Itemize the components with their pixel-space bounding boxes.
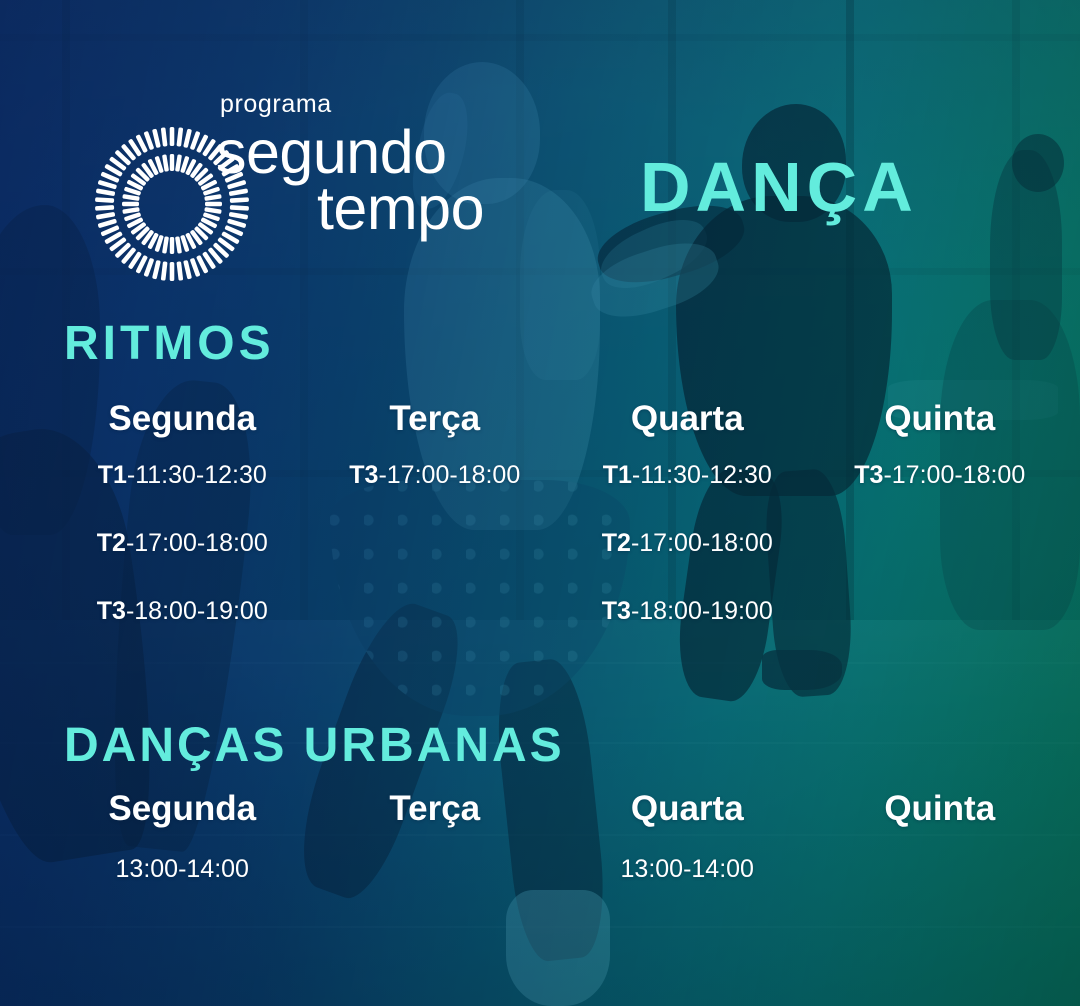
poster-canvas: programa segundo tempo DANÇA RITMOS Segu… [0,0,1080,1006]
slot-code: T2 [602,529,631,557]
schedule-grid-ritmos: Segunda T1-11:30-12:30 T2-17:00-18:00 T3… [56,400,1066,667]
logo-line-tempo: tempo [216,179,488,239]
slot-code: T3 [602,597,631,625]
slot-time: 13:00-14:00 [621,855,754,883]
schedule-column: Terça [309,790,562,882]
day-header: Segunda [56,790,309,829]
day-header: Quinta [814,400,1067,439]
slot-code: T1 [98,461,127,489]
section-heading-ritmos: RITMOS [64,320,275,368]
poster-content: programa segundo tempo DANÇA RITMOS Segu… [0,0,1080,1006]
time-slot [814,599,1067,667]
schedule-column: Quinta [814,790,1067,882]
slot-time: 11:30-12:30 [640,461,772,489]
day-header: Segunda [56,400,309,439]
schedule-grid-urbanas: Segunda 13:00-14:00 Terça Quarta 13:00-1… [56,790,1066,882]
schedule-column: Quinta T3-17:00-18:00 [814,400,1067,667]
schedule-column: Segunda 13:00-14:00 [56,790,309,882]
slot-sep: - [883,461,891,489]
slot-time: 17:00-18:00 [387,461,520,489]
schedule-column: Terça T3-17:00-18:00 [309,400,562,667]
slot-code: T3 [854,461,883,489]
slot-time: 17:00-18:00 [892,461,1025,489]
time-slot: 13:00-14:00 [56,857,309,882]
slot-code: T3 [349,461,378,489]
slot-sep: - [127,461,135,489]
logo-block: programa segundo tempo [88,92,488,282]
logo-line-programa: programa [216,92,488,117]
schedule-column: Segunda T1-11:30-12:30 T2-17:00-18:00 T3… [56,400,309,667]
day-header: Quinta [814,790,1067,829]
day-header: Terça [309,790,562,829]
logo-wordmark: programa segundo tempo [216,92,488,239]
schedule-column: Quarta 13:00-14:00 [561,790,814,882]
time-slot: T2-17:00-18:00 [561,531,814,599]
slot-sep: - [632,461,640,489]
slot-time: 13:00-14:00 [116,855,249,883]
day-header: Terça [309,400,562,439]
time-slot: T2-17:00-18:00 [56,531,309,599]
slot-code: T1 [603,461,632,489]
slot-code: T2 [97,529,126,557]
day-header: Quarta [561,400,814,439]
slot-time: 17:00-18:00 [134,529,267,557]
schedule-column: Quarta T1-11:30-12:30 T2-17:00-18:00 T3-… [561,400,814,667]
time-slot: T3-18:00-19:00 [561,599,814,667]
time-slot: T1-11:30-12:30 [56,463,309,531]
slot-code: T3 [97,597,126,625]
time-slot [814,531,1067,599]
slot-time: 11:30-12:30 [135,461,267,489]
section-heading-urbanas: DANÇAS URBANAS [64,722,565,770]
time-slot: T1-11:30-12:30 [561,463,814,531]
page-title: DANÇA [640,152,918,222]
day-header: Quarta [561,790,814,829]
time-slot [309,599,562,667]
time-slot: T3-18:00-19:00 [56,599,309,667]
slot-time: 17:00-18:00 [639,529,772,557]
slot-time: 18:00-19:00 [639,597,772,625]
slot-sep: - [378,461,386,489]
time-slot: T3-17:00-18:00 [309,463,562,531]
slot-time: 18:00-19:00 [134,597,267,625]
time-slot [309,531,562,599]
time-slot: T3-17:00-18:00 [814,463,1067,531]
time-slot: 13:00-14:00 [561,857,814,882]
